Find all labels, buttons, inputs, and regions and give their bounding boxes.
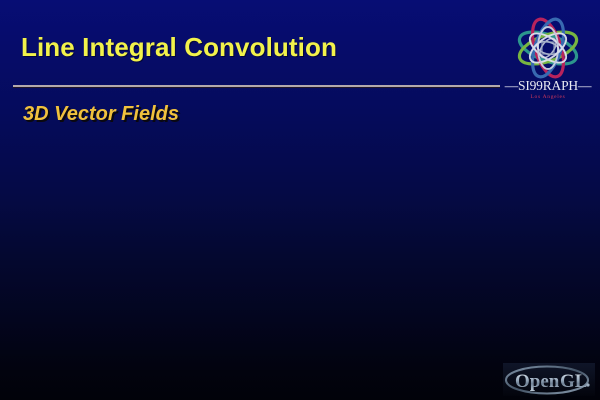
siggraph-city-label: Los Angeles	[500, 94, 596, 100]
siggraph-dash-left: —	[505, 78, 518, 93]
siggraph-wordmark: —SI99RAPH—	[500, 78, 596, 94]
title-divider-shadow	[13, 87, 500, 88]
svg-text:GL: GL	[560, 371, 587, 392]
opengl-logo-icon: Open GL	[503, 363, 595, 396]
siggraph-dash-right: —	[578, 78, 591, 93]
siggraph-logo: —SI99RAPH— Los Angeles	[500, 10, 596, 106]
slide-subtitle: 3D Vector Fields	[23, 103, 179, 126]
presentation-slide: Line Integral Convolution 3D Vector Fiel…	[0, 0, 600, 400]
svg-text:Open: Open	[515, 371, 560, 392]
siggraph-wordmark-text: SI99RAPH	[518, 78, 578, 93]
opengl-logo: Open GL	[503, 363, 595, 396]
siggraph-rings-icon	[500, 10, 596, 86]
slide-title: Line Integral Convolution	[21, 32, 337, 63]
